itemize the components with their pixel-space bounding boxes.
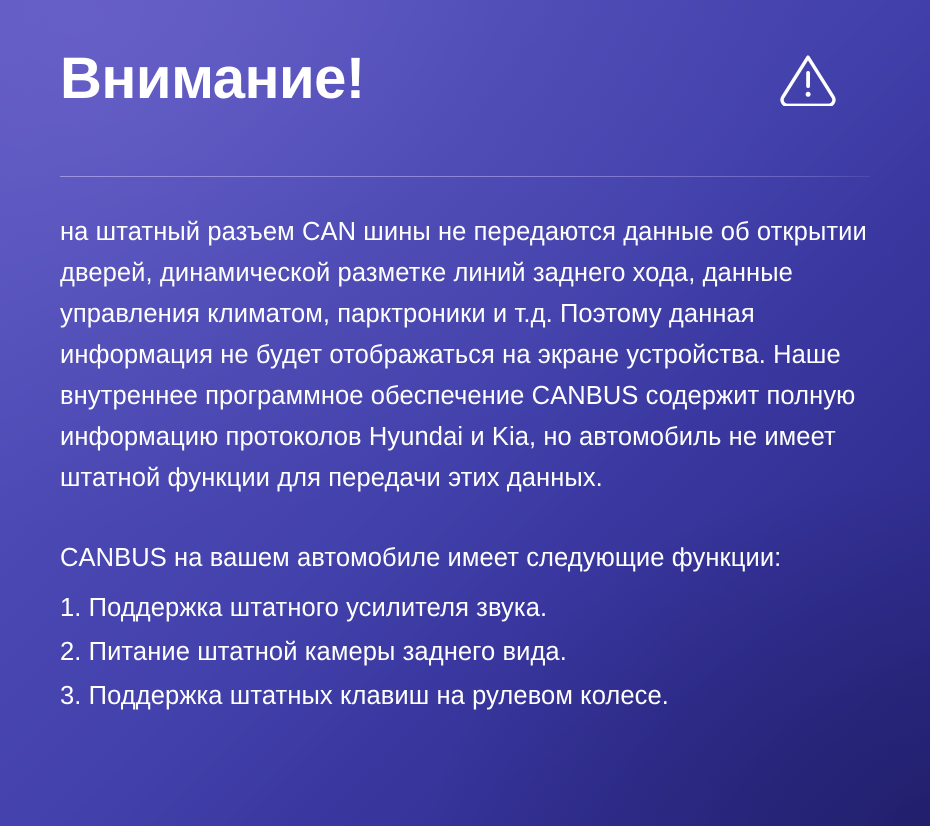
poster-content: Внимание! на штатный разъем CAN шины не …	[0, 0, 930, 718]
poster-header: Внимание!	[60, 0, 870, 168]
warning-poster: Внимание! на штатный разъем CAN шины не …	[0, 0, 930, 826]
header-divider	[60, 176, 870, 177]
body-block: на штатный разъем CAN шины не передаются…	[60, 212, 870, 499]
warning-triangle-icon	[779, 52, 837, 111]
page-title: Внимание!	[60, 50, 365, 108]
list-item: 1. Поддержка штатного усилителя звука.	[60, 586, 870, 630]
features-block: CANBUS на вашем автомобиле имеет следующ…	[60, 538, 870, 718]
features-list: 1. Поддержка штатного усилителя звука. 2…	[60, 586, 870, 718]
body-paragraph: на штатный разъем CAN шины не передаются…	[60, 212, 870, 499]
features-intro: CANBUS на вашем автомобиле имеет следующ…	[60, 538, 870, 579]
list-item: 3. Поддержка штатных клавиш на рулевом к…	[60, 674, 870, 718]
list-item: 2. Питание штатной камеры заднего вида.	[60, 630, 870, 674]
